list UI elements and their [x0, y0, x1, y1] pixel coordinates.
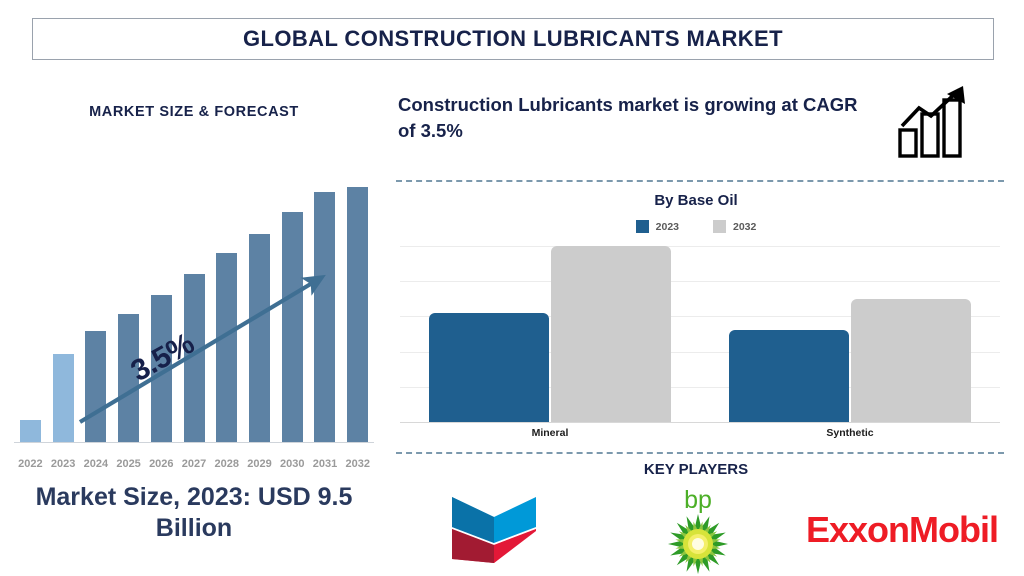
- forecast-bar: [85, 331, 106, 442]
- bp-wordmark: bp: [684, 486, 712, 514]
- page-title-banner: GLOBAL CONSTRUCTION LUBRICANTS MARKET: [32, 18, 994, 60]
- market-size-forecast-heading: MARKET SIZE & FORECAST: [0, 104, 388, 120]
- forecast-year-label: 2027: [178, 458, 211, 470]
- forecast-year-label: 2031: [309, 458, 342, 470]
- legend-entry-2032[interactable]: 2032: [713, 220, 756, 233]
- forecast-year-label: 2030: [276, 458, 309, 470]
- forecast-bar: [249, 234, 270, 442]
- by-base-oil-title: By Base Oil: [392, 192, 1000, 209]
- by-base-oil-legend: 20232032: [392, 220, 1000, 233]
- key-players-row: bp: [392, 484, 1004, 576]
- forecast-plot-area: [14, 170, 374, 443]
- key-player-chevron: [392, 484, 596, 576]
- forecast-bar: [20, 420, 41, 442]
- forecast-bar: [314, 192, 335, 442]
- gridline: [400, 246, 1000, 247]
- gridline: [400, 281, 1000, 282]
- forecast-year-label: 2025: [112, 458, 145, 470]
- legend-swatch-2032: [713, 220, 726, 233]
- market-size-forecast-chart: 3.5%: [14, 170, 374, 460]
- forecast-bar: [216, 253, 237, 442]
- divider-top: [396, 180, 1004, 182]
- base-oil-bar: [551, 246, 671, 422]
- base-oil-bar: [729, 330, 849, 422]
- market-size-forecast-panel: MARKET SIZE & FORECAST 3.5% 202220232024…: [0, 70, 388, 576]
- bar-chart-growth-icon: [897, 84, 981, 160]
- legend-label: 2023: [656, 221, 679, 233]
- page-title: GLOBAL CONSTRUCTION LUBRICANTS MARKET: [243, 26, 783, 52]
- by-base-oil-category-labels: MineralSynthetic: [400, 427, 1000, 443]
- forecast-bar: [282, 212, 303, 442]
- base-oil-bar: [429, 313, 549, 422]
- base-oil-bar: [851, 299, 971, 422]
- forecast-year-label: 2023: [47, 458, 80, 470]
- key-player-bp: bp: [596, 484, 800, 576]
- base-oil-category-label: Mineral: [490, 427, 610, 439]
- forecast-year-label: 2026: [145, 458, 178, 470]
- by-base-oil-plot-area: [400, 246, 1000, 422]
- key-player-exxonmobil: ExxonMobil: [800, 484, 1004, 576]
- forecast-year-label: 2024: [79, 458, 112, 470]
- chevron-logo: [448, 493, 540, 567]
- forecast-bar: [53, 354, 74, 442]
- by-base-oil-axis-line: [400, 422, 1000, 423]
- legend-label: 2032: [733, 221, 756, 233]
- divider-bottom: [396, 452, 1004, 454]
- forecast-bar: [347, 187, 368, 442]
- legend-swatch-2023: [636, 220, 649, 233]
- cagr-statement: Construction Lubricants market is growin…: [398, 92, 878, 145]
- base-oil-category-label: Synthetic: [790, 427, 910, 439]
- right-panel: Construction Lubricants market is growin…: [392, 70, 1024, 576]
- forecast-year-axis: 2022202320242025202620272028202920302031…: [14, 458, 374, 470]
- key-players-title: KEY PLAYERS: [392, 461, 1000, 478]
- forecast-year-label: 2032: [341, 458, 374, 470]
- forecast-year-label: 2022: [14, 458, 47, 470]
- forecast-year-label: 2028: [210, 458, 243, 470]
- market-size-note: Market Size, 2023: USD 9.5 Billion: [8, 482, 380, 543]
- bp-helios-logo: bp: [650, 486, 746, 574]
- exxonmobil-wordmark: ExxonMobil: [806, 509, 998, 551]
- legend-entry-2023[interactable]: 2023: [636, 220, 679, 233]
- forecast-year-label: 2029: [243, 458, 276, 470]
